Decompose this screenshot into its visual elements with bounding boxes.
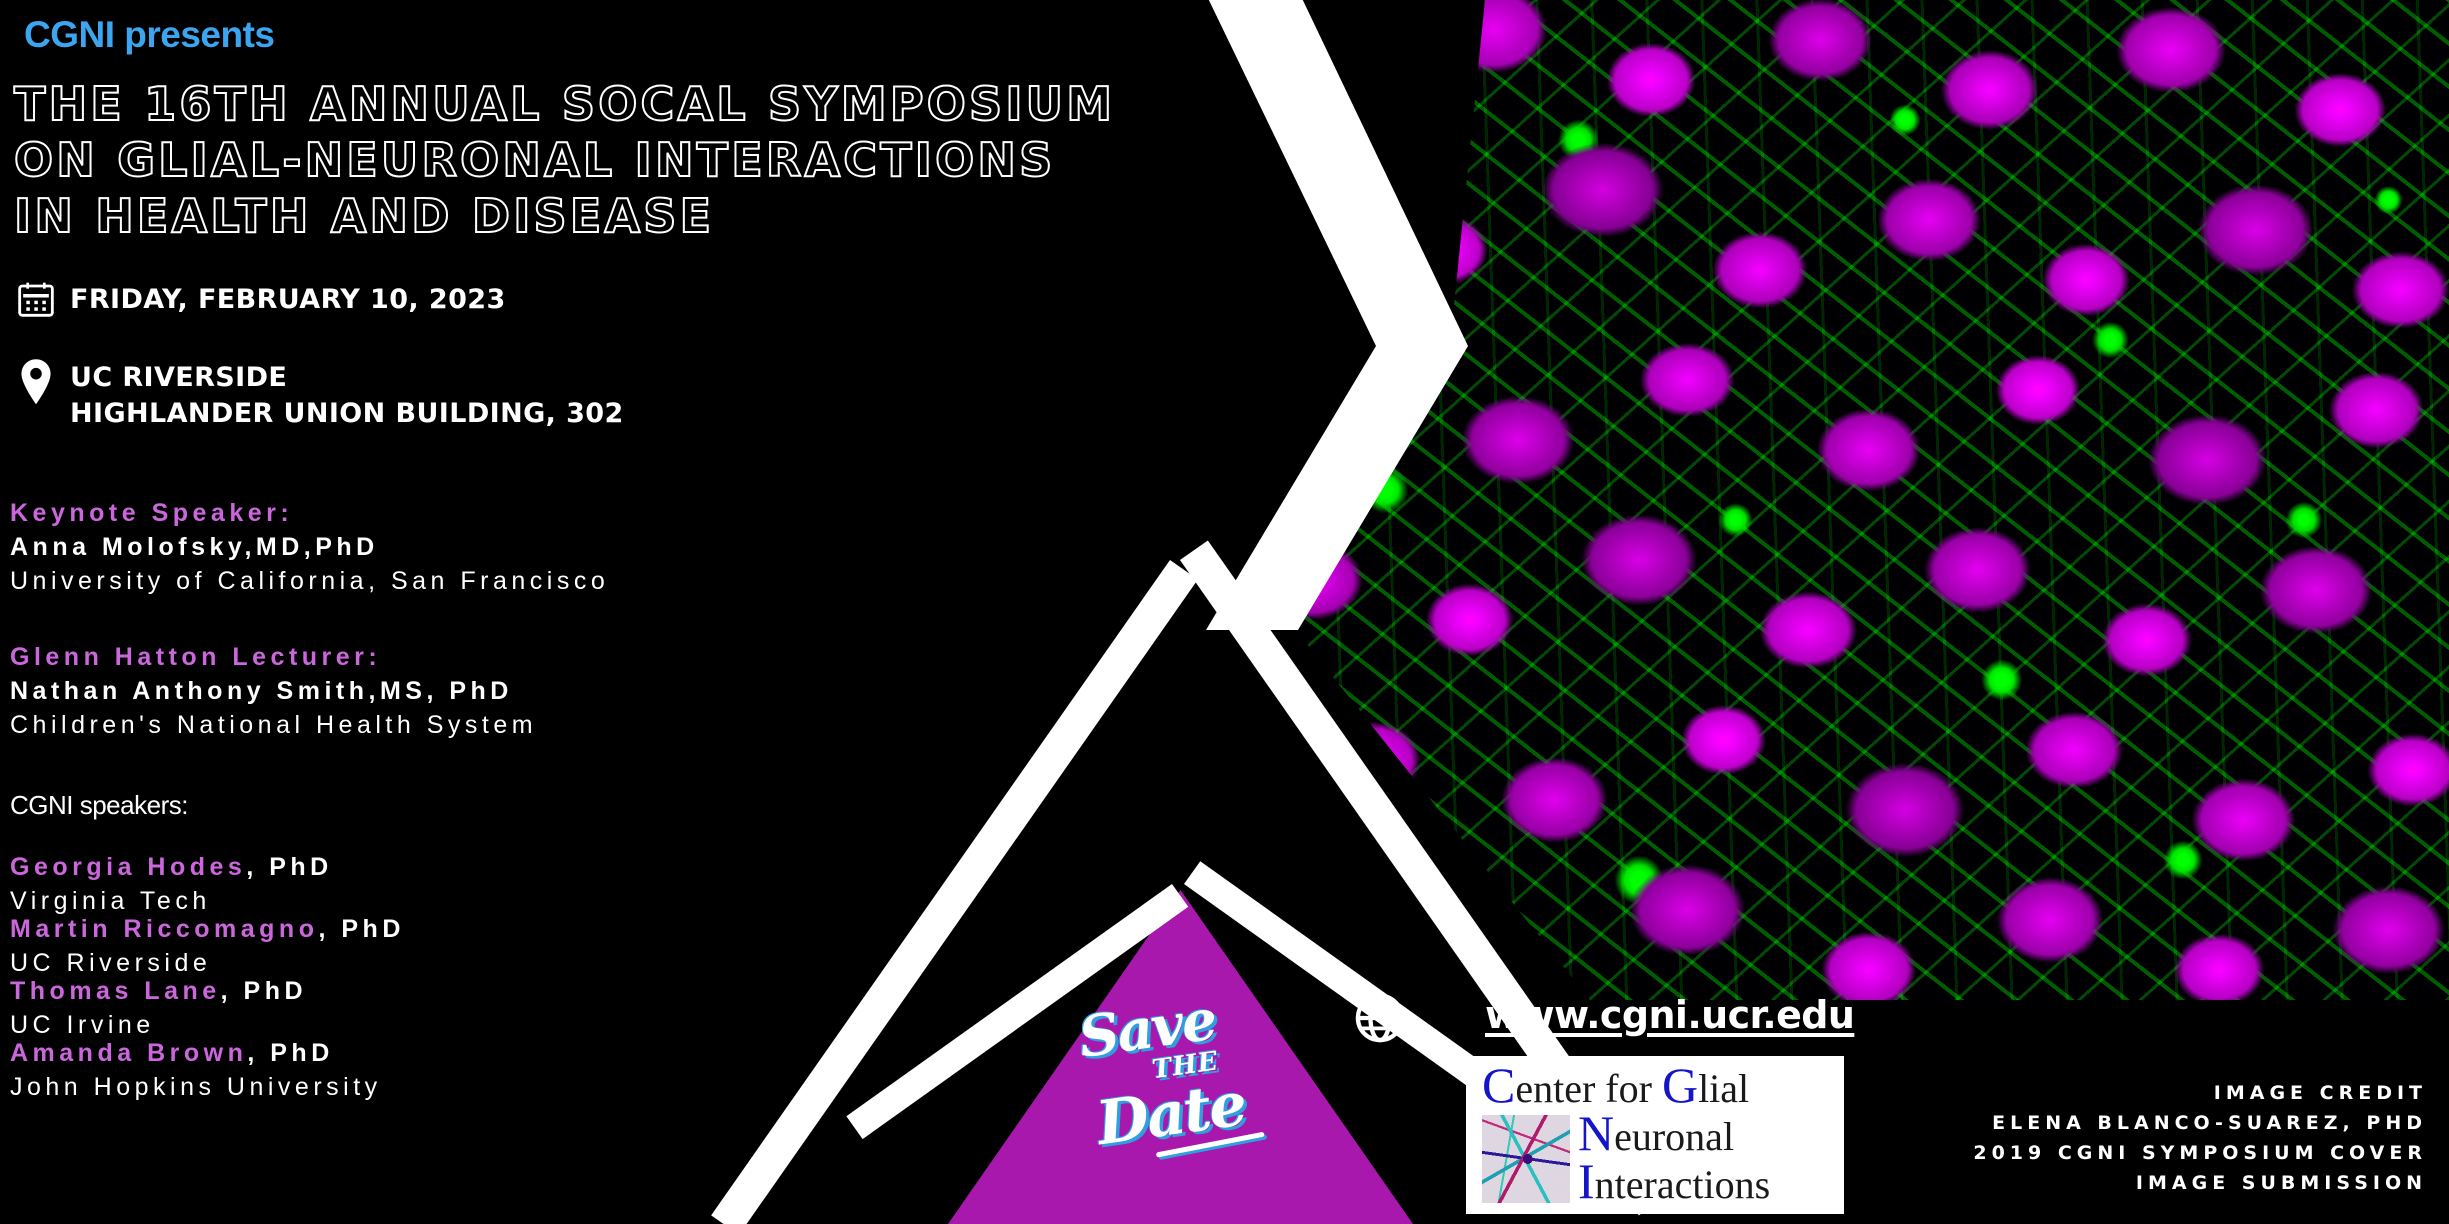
hatton-lecturer-affiliation: Children's National Health System xyxy=(10,708,537,742)
image-credit-line-1: ELENA BLANCO-SUAREZ, PHD xyxy=(1973,1108,2427,1138)
cgni-speaker-item-3: Amanda Brown, PhD John Hopkins Universit… xyxy=(10,1036,382,1104)
keynote-speaker-label: Keynote Speaker: xyxy=(10,496,609,530)
cgni-speaker-item-0: Georgia Hodes, PhD Virginia Tech xyxy=(10,850,333,918)
cgni-speaker-name-0: Georgia Hodes, PhD xyxy=(10,850,333,884)
cgni-speaker-name-2: Thomas Lane, PhD xyxy=(10,974,307,1008)
page-title: THE 16TH ANNUAL SOCAL SYMPOSIUM ON GLIAL… xyxy=(14,76,1094,244)
page-title-line-2: ON GLIAL-NEURONAL INTERACTIONS xyxy=(14,132,1094,188)
keynote-speaker-affiliation: University of California, San Francisco xyxy=(10,564,609,598)
cgni-speakers-label: CGNI speakers: xyxy=(10,790,188,821)
poster-flyer: Save THE Date CGNI presents THE 16TH ANN… xyxy=(0,0,2449,1224)
image-credit-line-2: 2019 CGNI SYMPOSIUM COVER xyxy=(1973,1138,2427,1168)
venue-line-2: HIGHLANDER UNION BUILDING, 302 xyxy=(58,394,624,430)
globe-icon xyxy=(1354,992,1406,1044)
hatton-lecturer-name: Nathan Anthony Smith,MS, PhD xyxy=(10,674,537,708)
cgni-logo-line-2: Neuronal xyxy=(1578,1111,1770,1159)
cgni-logo-body: Neuronal Interactions xyxy=(1466,1111,1844,1207)
event-date-text: FRIDAY, FEBRUARY 10, 2023 xyxy=(58,280,506,316)
cgni-speaker-item-1: Martin Riccomagno, PhD UC Riverside xyxy=(10,912,405,980)
calendar-icon xyxy=(14,280,58,320)
cgni-speaker-name-3: Amanda Brown, PhD xyxy=(10,1036,382,1070)
cgni-logo-line-1: Center for Glial xyxy=(1466,1063,1844,1111)
cgni-speaker-item-2: Thomas Lane, PhD UC Irvine xyxy=(10,974,307,1042)
keynote-speaker-name: Anna Molofsky,MD,PhD xyxy=(10,530,609,564)
page-title-line-1: THE 16TH ANNUAL SOCAL SYMPOSIUM xyxy=(14,76,1094,132)
cgni-logo-words: Neuronal Interactions xyxy=(1570,1111,1770,1207)
hatton-lecturer-label: Glenn Hatton Lecturer: xyxy=(10,640,537,674)
cgni-logo: Center for Glial Neuronal Interactions xyxy=(1466,1056,1844,1214)
page-title-line-3: IN HEALTH AND DISEASE xyxy=(14,188,1094,244)
event-date-row: FRIDAY, FEBRUARY 10, 2023 xyxy=(14,280,506,320)
cgni-speaker-affiliation-3: John Hopkins University xyxy=(10,1070,382,1104)
image-credit-line-3: IMAGE SUBMISSION xyxy=(1973,1168,2427,1198)
cgni-presents-label: CGNI presents xyxy=(24,14,275,56)
map-pin-icon xyxy=(14,358,58,406)
website-link[interactable]: www.cgni.ucr.edu xyxy=(1485,993,1854,1037)
save-the-date-triangle xyxy=(948,890,1413,1224)
image-credit: IMAGE CREDIT ELENA BLANCO-SUAREZ, PHD 20… xyxy=(1973,1078,2427,1198)
cgni-logo-line-3: Interactions xyxy=(1578,1159,1770,1207)
venue-line-1: UC RIVERSIDE xyxy=(58,358,624,394)
cgni-speaker-name-1: Martin Riccomagno, PhD xyxy=(10,912,405,946)
image-credit-line-0: IMAGE CREDIT xyxy=(1973,1078,2427,1108)
event-location-text: UC RIVERSIDE HIGHLANDER UNION BUILDING, … xyxy=(58,358,624,430)
event-location-row: UC RIVERSIDE HIGHLANDER UNION BUILDING, … xyxy=(14,358,624,430)
hatton-lecturer-block: Glenn Hatton Lecturer: Nathan Anthony Sm… xyxy=(10,640,537,742)
keynote-speaker-block: Keynote Speaker: Anna Molofsky,MD,PhD Un… xyxy=(10,496,609,598)
neuron-thumbnail-icon xyxy=(1482,1115,1570,1203)
